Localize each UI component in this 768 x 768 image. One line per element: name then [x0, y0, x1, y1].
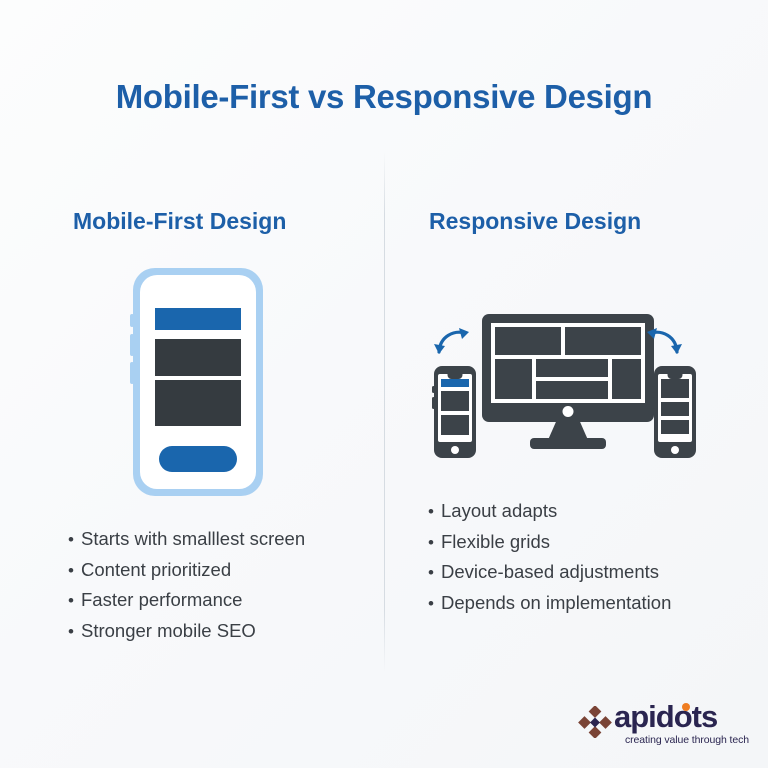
- monitor-indicator-light: [563, 406, 574, 417]
- phone-cta-button: [159, 446, 237, 472]
- apidots-tagline: creating value through tech: [625, 734, 749, 746]
- list-item-label: Faster performance: [81, 589, 242, 611]
- phone-content-block-2: [155, 380, 241, 426]
- monitor-body: [482, 314, 654, 422]
- resize-arrow-left-icon: [430, 326, 474, 365]
- column-divider: [384, 152, 385, 672]
- small-phone-speaker: [668, 374, 683, 379]
- monitor-layout-block-6: [612, 359, 641, 399]
- phone-volume-down-button: [130, 362, 134, 384]
- monitor-layout-block-4: [536, 359, 608, 377]
- small-phone-header-bar: [441, 379, 469, 387]
- monitor-layout-block-2: [565, 327, 641, 355]
- small-phone-block-2: [441, 415, 469, 435]
- list-item: • Depends on implementation: [428, 592, 671, 614]
- list-item-label: Stronger mobile SEO: [81, 620, 256, 642]
- small-phone-side-button-b: [432, 397, 435, 409]
- phone-notch: [177, 275, 219, 284]
- infographic-canvas: Mobile-First vs Responsive Design Mobile…: [0, 0, 768, 768]
- brand-logo: apidots creating value through tech: [578, 700, 738, 752]
- phone-content-block-1: [155, 339, 241, 376]
- list-item: • Device-based adjustments: [428, 561, 671, 583]
- bullet-marker-icon: •: [68, 591, 81, 611]
- bullet-marker-icon: •: [428, 533, 441, 553]
- resize-arrow-right-icon: [642, 326, 686, 365]
- left-bullet-list: • Starts with smalllest screen • Content…: [68, 528, 305, 650]
- list-item: • Layout adapts: [428, 500, 671, 522]
- list-item: • Flexible grids: [428, 531, 671, 553]
- responsive-devices-mockup: [420, 330, 720, 470]
- small-phone-side-button-a: [432, 386, 435, 393]
- list-item-label: Content prioritized: [81, 559, 231, 581]
- monitor-layout-block-5: [536, 381, 608, 399]
- monitor-stand-base: [530, 438, 606, 449]
- small-phone-screen: [438, 374, 472, 442]
- small-phone-left: [434, 366, 476, 458]
- small-phone-block-1: [661, 379, 689, 398]
- small-phone-speaker: [448, 374, 463, 379]
- right-column-heading: Responsive Design: [429, 208, 641, 235]
- phone-header-bar: [155, 308, 241, 330]
- list-item-label: Layout adapts: [441, 500, 557, 522]
- mobile-phone-mockup: [133, 268, 263, 496]
- list-item-label: Flexible grids: [441, 531, 550, 553]
- bullet-marker-icon: •: [68, 561, 81, 581]
- small-phone-side-button-b: [652, 397, 655, 409]
- monitor-layout-block-1: [495, 327, 561, 355]
- small-phone-side-button-a: [652, 386, 655, 393]
- phone-side-button-top: [130, 314, 134, 327]
- small-phone-screen: [658, 374, 692, 442]
- small-phone-block-3: [661, 420, 689, 434]
- bullet-marker-icon: •: [428, 594, 441, 614]
- list-item: • Stronger mobile SEO: [68, 620, 305, 642]
- apidots-diamond-mark-icon: [578, 706, 612, 738]
- desktop-monitor: [482, 314, 654, 460]
- bullet-marker-icon: •: [68, 530, 81, 550]
- monitor-screen: [491, 323, 645, 403]
- small-phone-right: [654, 366, 696, 458]
- left-column-heading: Mobile-First Design: [73, 208, 286, 235]
- bullet-marker-icon: •: [428, 502, 441, 522]
- right-bullet-list: • Layout adapts • Flexible grids • Devic…: [428, 500, 671, 622]
- bullet-marker-icon: •: [428, 563, 441, 583]
- monitor-layout-block-3: [495, 359, 532, 399]
- small-phone-home-button: [671, 446, 679, 454]
- small-phone-block-1: [441, 391, 469, 411]
- monitor-stand-neck: [548, 420, 588, 440]
- bullet-marker-icon: •: [68, 622, 81, 642]
- list-item: • Content prioritized: [68, 559, 305, 581]
- small-phone-block-2: [661, 402, 689, 416]
- small-phone-home-button: [451, 446, 459, 454]
- page-title: Mobile-First vs Responsive Design: [0, 78, 768, 116]
- apidots-orange-dot-icon: [682, 703, 690, 711]
- list-item: • Faster performance: [68, 589, 305, 611]
- list-item-label: Depends on implementation: [441, 592, 671, 614]
- list-item-label: Device-based adjustments: [441, 561, 659, 583]
- phone-volume-up-button: [130, 334, 134, 356]
- list-item-label: Starts with smalllest screen: [81, 528, 305, 550]
- apidots-wordmark: apidots: [614, 700, 717, 734]
- list-item: • Starts with smalllest screen: [68, 528, 305, 550]
